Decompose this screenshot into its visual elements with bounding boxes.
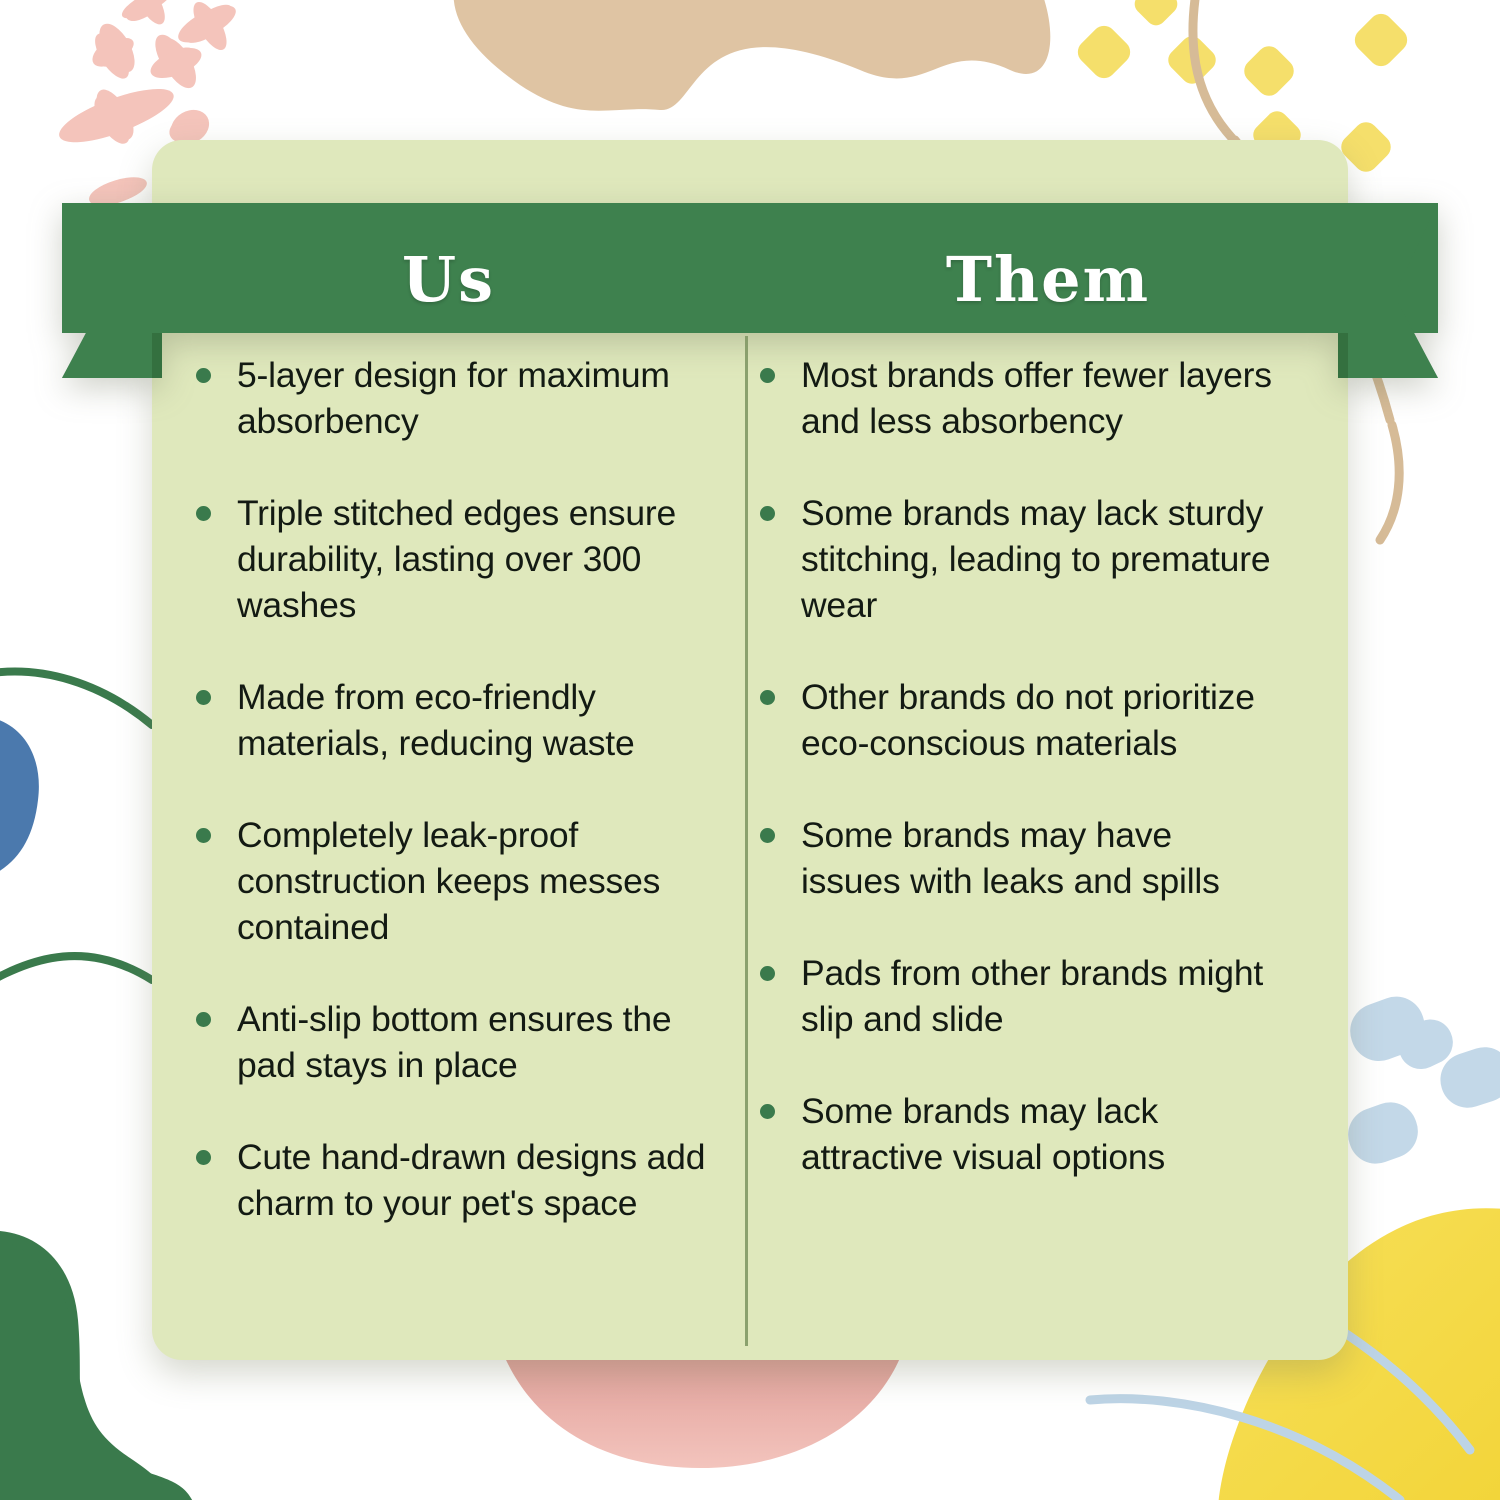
- column-divider: [745, 336, 748, 1346]
- list-item: 5-layer design for maximum absorbency: [196, 352, 708, 444]
- bullet-dot-icon: [196, 690, 211, 705]
- bullet-dot-icon: [760, 1104, 775, 1119]
- column-header-us: Us: [152, 222, 745, 337]
- list-item-label: Completely leak-proof construction keeps…: [237, 812, 708, 950]
- list-item: Made from eco-friendly materials, reduci…: [196, 674, 708, 766]
- bullet-dot-icon: [760, 690, 775, 705]
- list-item: Most brands offer fewer layers and less …: [760, 352, 1272, 444]
- list-item-label: Most brands offer fewer layers and less …: [801, 352, 1272, 444]
- bullet-dot-icon: [196, 1150, 211, 1165]
- list-item-label: Some brands may lack sturdy stitching, l…: [801, 490, 1272, 628]
- list-item-label: Anti-slip bottom ensures the pad stays i…: [237, 996, 708, 1088]
- list-item-label: 5-layer design for maximum absorbency: [237, 352, 708, 444]
- list-item-label: Cute hand-drawn designs add charm to you…: [237, 1134, 708, 1226]
- tan-blob-top: [454, 0, 1051, 111]
- list-item: Triple stitched edges ensure durability,…: [196, 490, 708, 628]
- list-item: Other brands do not prioritize eco-consc…: [760, 674, 1272, 766]
- list-item: Anti-slip bottom ensures the pad stays i…: [196, 996, 708, 1088]
- list-item-label: Other brands do not prioritize eco-consc…: [801, 674, 1272, 766]
- bullet-dot-icon: [760, 828, 775, 843]
- comparison-graphic: Us Them 5-layer design for maximum absor…: [0, 0, 1500, 1500]
- bullet-dot-icon: [760, 368, 775, 383]
- bullet-dot-icon: [760, 506, 775, 521]
- list-item-label: Some brands may lack attractive visual o…: [801, 1088, 1272, 1180]
- list-item: Cute hand-drawn designs add charm to you…: [196, 1134, 708, 1226]
- bullet-dot-icon: [196, 506, 211, 521]
- light-blue-dashes-right: [1341, 989, 1500, 1172]
- list-item: Pads from other brands might slip and sl…: [760, 950, 1272, 1042]
- list-item-label: Some brands may have issues with leaks a…: [801, 812, 1272, 904]
- list-item-label: Triple stitched edges ensure durability,…: [237, 490, 708, 628]
- list-item: Some brands may have issues with leaks a…: [760, 812, 1272, 904]
- column-header-them: Them: [748, 222, 1348, 337]
- list-item: Completely leak-proof construction keeps…: [196, 812, 708, 950]
- list-item: Some brands may lack sturdy stitching, l…: [760, 490, 1272, 628]
- list-item-label: Made from eco-friendly materials, reduci…: [237, 674, 708, 766]
- bullet-dot-icon: [760, 966, 775, 981]
- bullet-dot-icon: [196, 368, 211, 383]
- list-item: Some brands may lack attractive visual o…: [760, 1088, 1272, 1180]
- bullet-dot-icon: [196, 1012, 211, 1027]
- column-us: 5-layer design for maximum absorbency Tr…: [196, 352, 708, 1272]
- list-item-label: Pads from other brands might slip and sl…: [801, 950, 1272, 1042]
- column-them: Most brands offer fewer layers and less …: [760, 352, 1272, 1226]
- bullet-dot-icon: [196, 828, 211, 843]
- blue-blob-left: [0, 715, 39, 885]
